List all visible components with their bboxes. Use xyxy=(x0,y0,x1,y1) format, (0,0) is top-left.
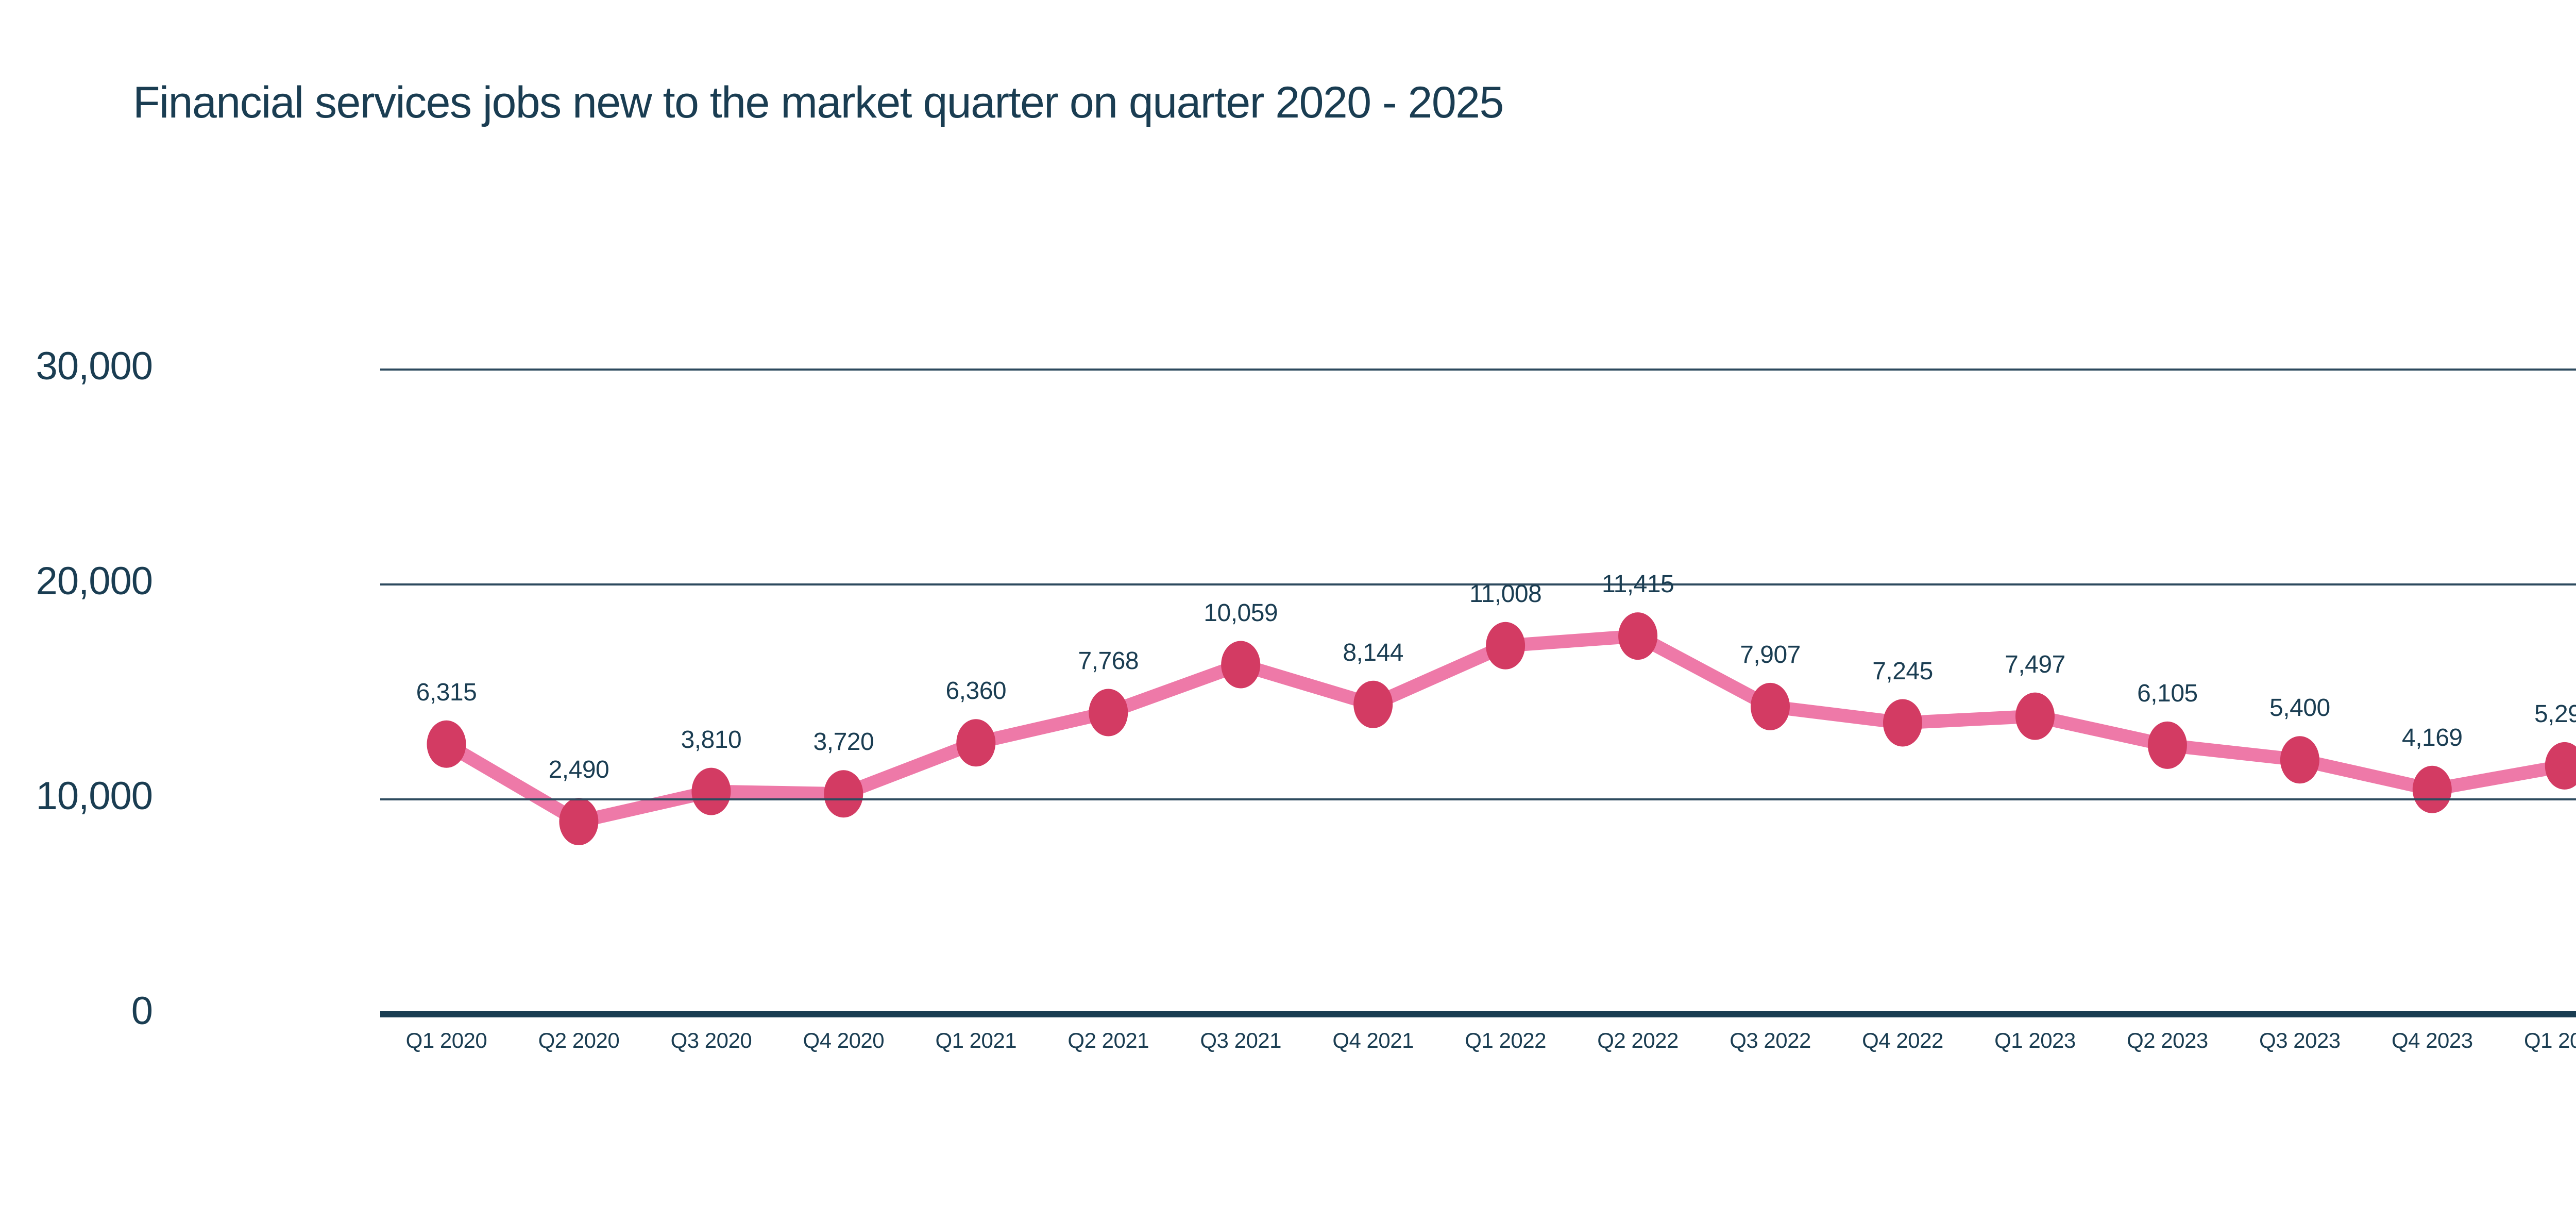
data-point-marker[interactable] xyxy=(1618,612,1657,660)
gridline xyxy=(380,369,2576,371)
data-point-marker[interactable] xyxy=(691,768,731,815)
series-line xyxy=(447,636,2576,822)
data-point-label: 3,720 xyxy=(814,728,874,756)
data-point-marker[interactable] xyxy=(2545,742,2576,790)
plot-area: 010,00020,00030,000Q1 2020Q2 2020Q3 2020… xyxy=(0,0,2576,1205)
data-point-marker[interactable] xyxy=(1089,689,1128,737)
x-axis-line xyxy=(380,1011,2576,1017)
x-tick-label: Q4 2021 xyxy=(1332,1028,1414,1053)
data-point-label: 7,245 xyxy=(1872,657,1933,685)
x-tick-label: Q1 2024 xyxy=(2524,1028,2576,1053)
x-tick-label: Q2 2020 xyxy=(538,1028,620,1053)
data-point-label: 5,400 xyxy=(2269,694,2330,722)
data-point-label: 3,810 xyxy=(681,726,742,754)
x-tick-label: Q2 2022 xyxy=(1597,1028,1679,1053)
data-point-marker[interactable] xyxy=(1751,683,1790,730)
data-point-label: 4,169 xyxy=(2402,724,2463,752)
data-point-marker[interactable] xyxy=(956,719,995,766)
x-tick-label: Q4 2022 xyxy=(1862,1028,1943,1053)
data-point-marker[interactable] xyxy=(1221,641,1260,689)
gridline xyxy=(380,798,2576,800)
data-point-label: 7,768 xyxy=(1078,647,1139,675)
x-tick-label: Q2 2023 xyxy=(2127,1028,2208,1053)
x-tick-label: Q4 2020 xyxy=(803,1028,885,1053)
data-point-label: 6,105 xyxy=(2137,679,2198,708)
data-point-marker[interactable] xyxy=(1353,681,1393,728)
x-tick-label: Q3 2020 xyxy=(671,1028,752,1053)
x-tick-label: Q2 2021 xyxy=(1067,1028,1149,1053)
line-series xyxy=(0,0,2576,1205)
data-point-label: 2,490 xyxy=(549,756,609,784)
y-tick-label: 10,000 xyxy=(36,774,152,818)
data-point-label: 7,907 xyxy=(1740,641,1801,669)
data-point-label: 10,059 xyxy=(1204,599,1278,627)
x-tick-label: Q1 2020 xyxy=(406,1028,487,1053)
x-tick-label: Q4 2023 xyxy=(2392,1028,2473,1053)
x-tick-label: Q1 2022 xyxy=(1465,1028,1546,1053)
data-point-marker[interactable] xyxy=(1883,699,1922,747)
x-tick-label: Q1 2021 xyxy=(935,1028,1016,1053)
x-tick-label: Q3 2021 xyxy=(1200,1028,1281,1053)
y-tick-label: 20,000 xyxy=(36,559,152,604)
data-point-label: 8,144 xyxy=(1343,639,1403,667)
data-point-marker[interactable] xyxy=(2015,693,2055,740)
data-point-label: 6,360 xyxy=(945,677,1006,705)
x-tick-label: Q3 2023 xyxy=(2259,1028,2341,1053)
data-point-label: 6,315 xyxy=(416,678,477,707)
x-tick-label: Q1 2023 xyxy=(1994,1028,2076,1053)
data-point-marker[interactable] xyxy=(824,770,863,817)
data-point-marker[interactable] xyxy=(1486,622,1525,670)
data-point-label: 7,497 xyxy=(2005,650,2065,679)
data-point-label: 5,292 xyxy=(2534,700,2576,728)
data-point-label: 11,008 xyxy=(1469,580,1541,608)
data-point-marker[interactable] xyxy=(2413,766,2452,813)
data-point-marker[interactable] xyxy=(2148,722,2187,769)
data-point-label: 11,415 xyxy=(1602,570,1674,598)
x-tick-label: Q3 2022 xyxy=(1730,1028,1811,1053)
y-tick-label: 0 xyxy=(131,989,152,1033)
data-point-marker[interactable] xyxy=(427,721,466,768)
y-tick-label: 30,000 xyxy=(36,344,152,389)
series-markers xyxy=(427,612,2576,845)
data-point-marker[interactable] xyxy=(2280,736,2319,783)
chart-container: Financial services jobs new to the marke… xyxy=(0,0,2576,1205)
data-point-marker[interactable] xyxy=(559,798,598,845)
